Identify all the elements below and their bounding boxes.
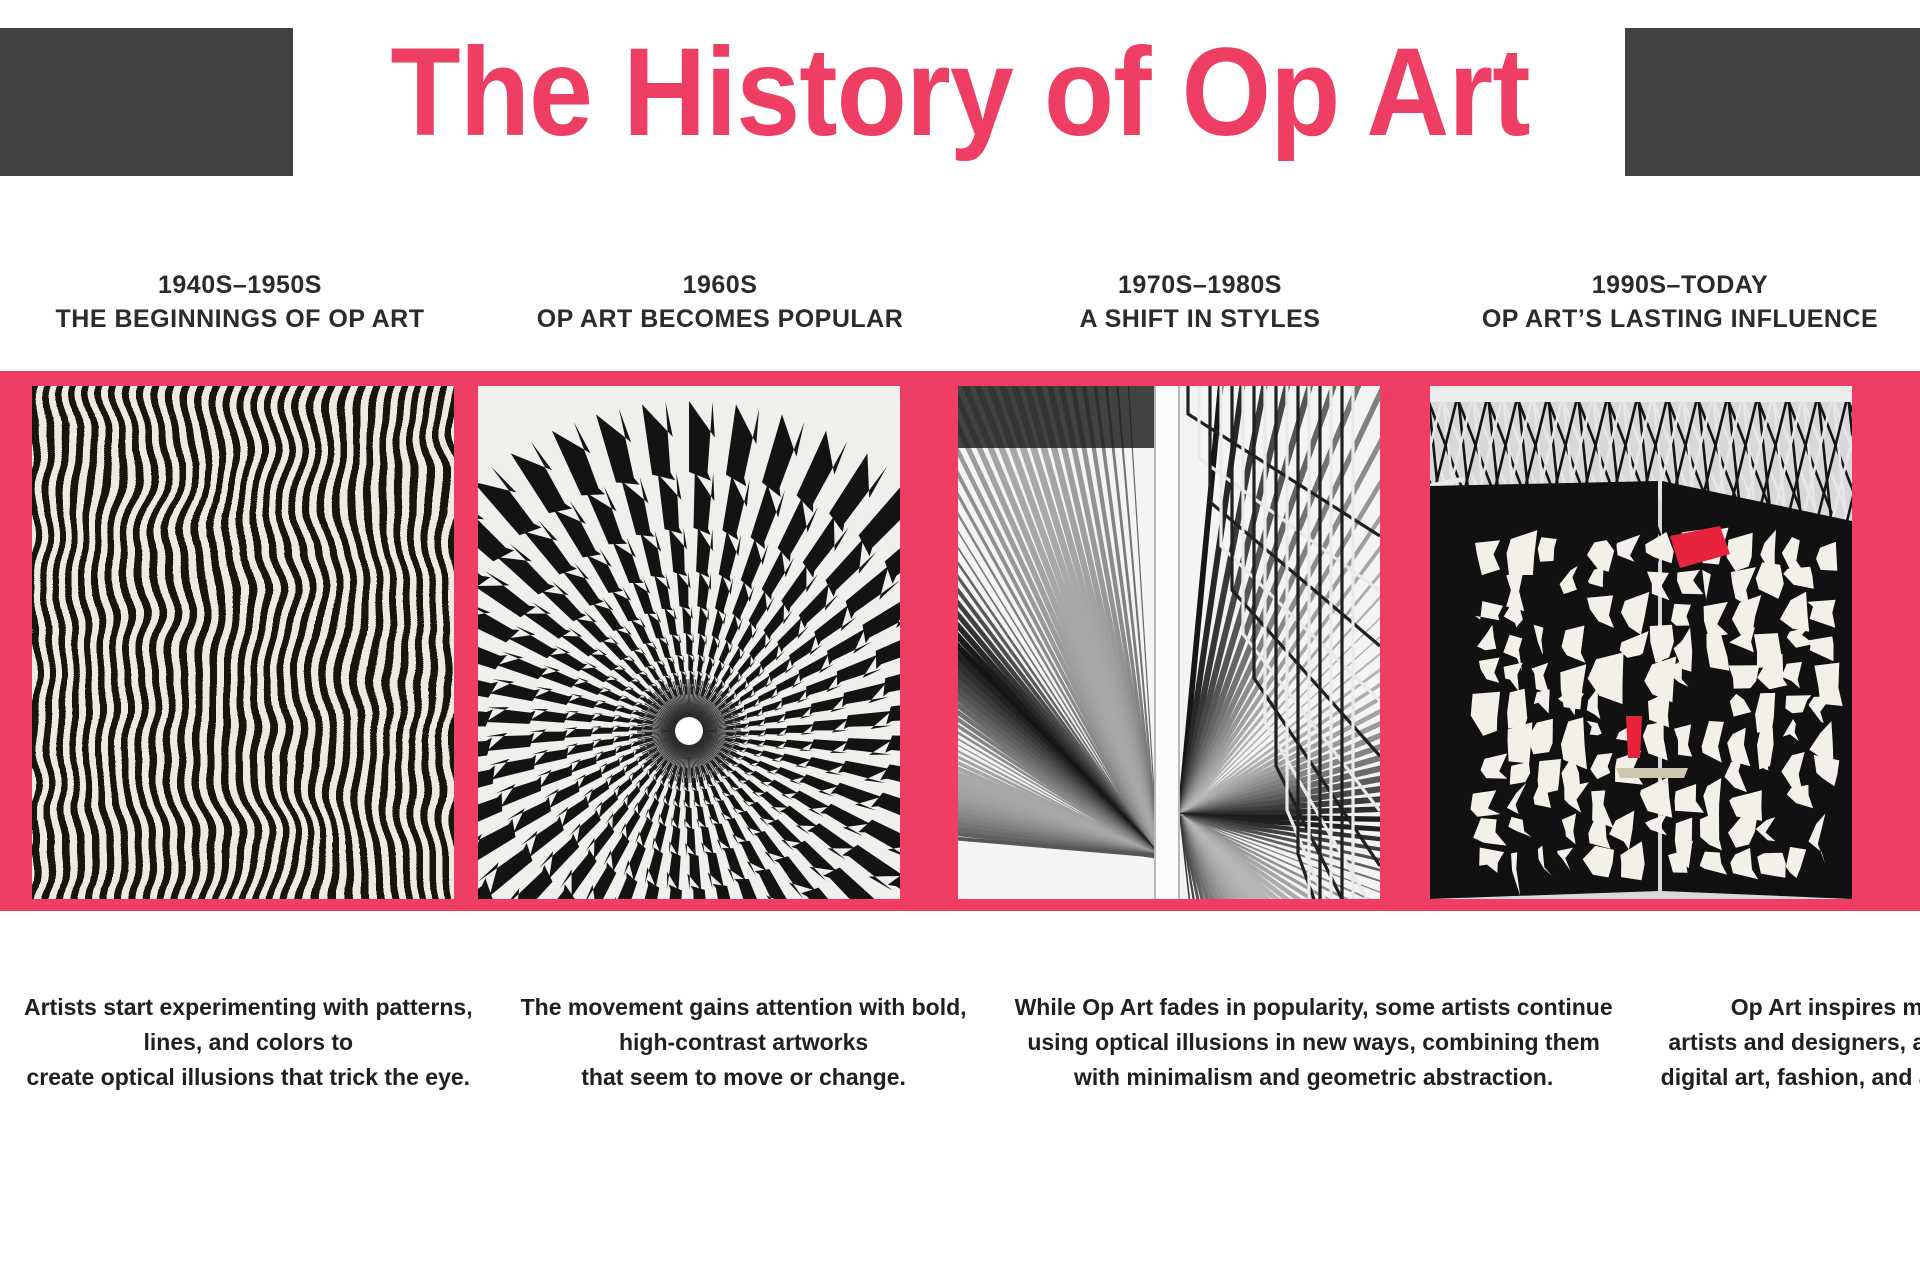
caption-2-line-2: high-contrast artworks (521, 1025, 967, 1060)
era-subtitle-2: OP ART BECOMES POPULAR (480, 302, 960, 336)
caption-2-line-3: that seem to move or change. (521, 1060, 967, 1095)
installation-room-artwork (1430, 386, 1852, 899)
caption-4-line-1: Op Art inspires modern (1661, 990, 1920, 1025)
caption-3-line-3: with minimalism and geometric abstractio… (1015, 1060, 1613, 1095)
column-headings: 1940S–1950S THE BEGINNINGS OF OP ART 196… (0, 268, 1920, 358)
column-heading-4: 1990S–TODAY OP ART’S LASTING INFLUENCE (1440, 268, 1920, 358)
caption-4-line-3: digital art, fashion, and architecture. (1661, 1060, 1920, 1095)
artwork-band (0, 371, 1920, 911)
header: The History of Op Art (0, 0, 1920, 200)
era-label-2: 1960S (480, 268, 960, 302)
infographic-canvas: The History of Op Art 1940S–1950S THE BE… (0, 0, 1920, 1265)
caption-1-line-1: Artists start experimenting with pattern… (24, 990, 473, 1025)
era-label-3: 1970S–1980S (960, 268, 1440, 302)
caption-1-line-2: lines, and colors to (24, 1025, 473, 1060)
chevron-spiral-blaze-artwork (478, 386, 900, 899)
caption-1-line-3: create optical illusions that trick the … (24, 1060, 473, 1095)
caption-1: Artists start experimenting with pattern… (0, 990, 497, 1095)
column-heading-2: 1960S OP ART BECOMES POPULAR (480, 268, 960, 358)
era-subtitle-1: THE BEGINNINGS OF OP ART (0, 302, 480, 336)
era-label-4: 1990S–TODAY (1440, 268, 1920, 302)
radiating-perspective-artwork (958, 386, 1380, 899)
caption-3-line-2: using optical illusions in new ways, com… (1015, 1025, 1613, 1060)
era-subtitle-4: OP ART’S LASTING INFLUENCE (1440, 302, 1920, 336)
era-subtitle-3: A SHIFT IN STYLES (960, 302, 1440, 336)
caption-3-line-1: While Op Art fades in popularity, some a… (1015, 990, 1613, 1025)
caption-2: The movement gains attention with bold, … (497, 990, 991, 1095)
caption-2-line-1: The movement gains attention with bold, (521, 990, 967, 1025)
wavy-line-moire-artwork (32, 386, 454, 899)
column-heading-3: 1970S–1980S A SHIFT IN STYLES (960, 268, 1440, 358)
page-title: The History of Op Art (77, 8, 1843, 178)
caption-4-line-2: artists and designers, appearing in (1661, 1025, 1920, 1060)
era-label-1: 1940S–1950S (0, 268, 480, 302)
column-heading-1: 1940S–1950S THE BEGINNINGS OF OP ART (0, 268, 480, 358)
caption-3: While Op Art fades in popularity, some a… (991, 990, 1637, 1095)
caption-4: Op Art inspires modern artists and desig… (1637, 990, 1920, 1095)
captions-row: Artists start experimenting with pattern… (0, 990, 1920, 1095)
